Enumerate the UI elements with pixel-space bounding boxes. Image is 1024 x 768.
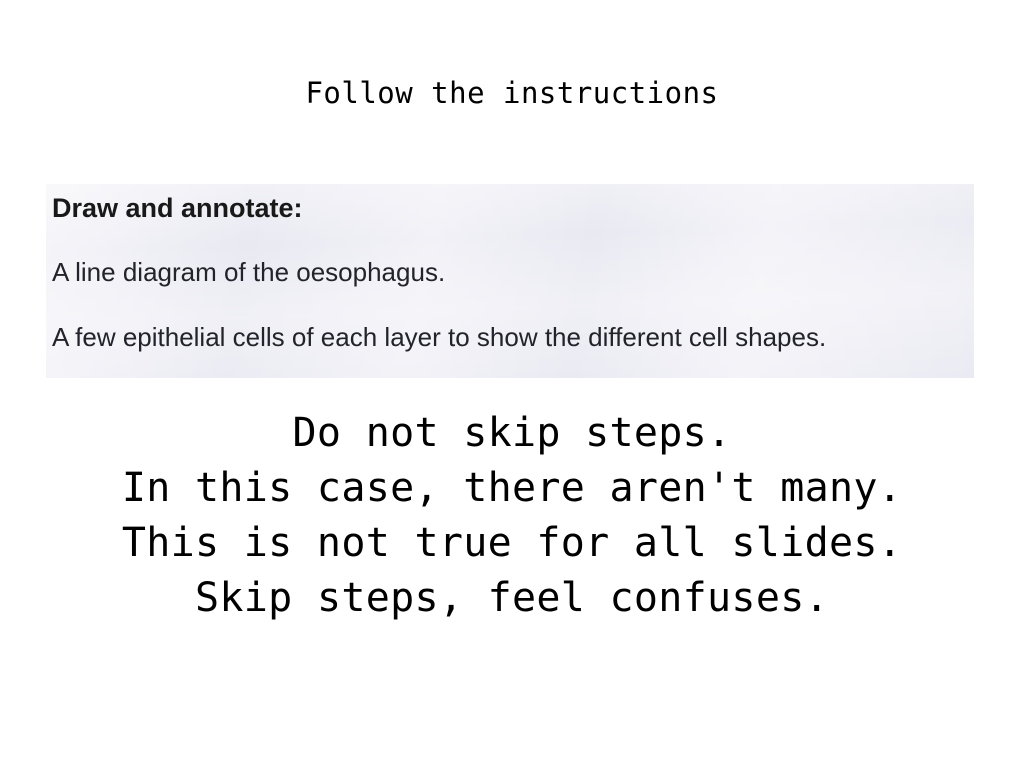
instruction-heading: Draw and annotate: xyxy=(52,192,303,224)
slide-canvas: Follow the instructions Draw and annotat… xyxy=(0,0,1024,768)
body-line-3: This is not true for all slides. xyxy=(0,516,1024,571)
instruction-line-cells: A few epithelial cells of each layer to … xyxy=(52,321,826,353)
body-line-4: Skip steps, feel confuses. xyxy=(0,571,1024,626)
body-line-2: In this case, there aren't many. xyxy=(0,461,1024,516)
body-text-block: Do not skip steps. In this case, there a… xyxy=(0,406,1024,626)
instruction-line-diagram: A line diagram of the oesophagus. xyxy=(52,256,445,288)
page-title: Follow the instructions xyxy=(0,76,1024,110)
body-line-1: Do not skip steps. xyxy=(0,406,1024,461)
instruction-image-block: Draw and annotate: A line diagram of the… xyxy=(46,184,974,378)
